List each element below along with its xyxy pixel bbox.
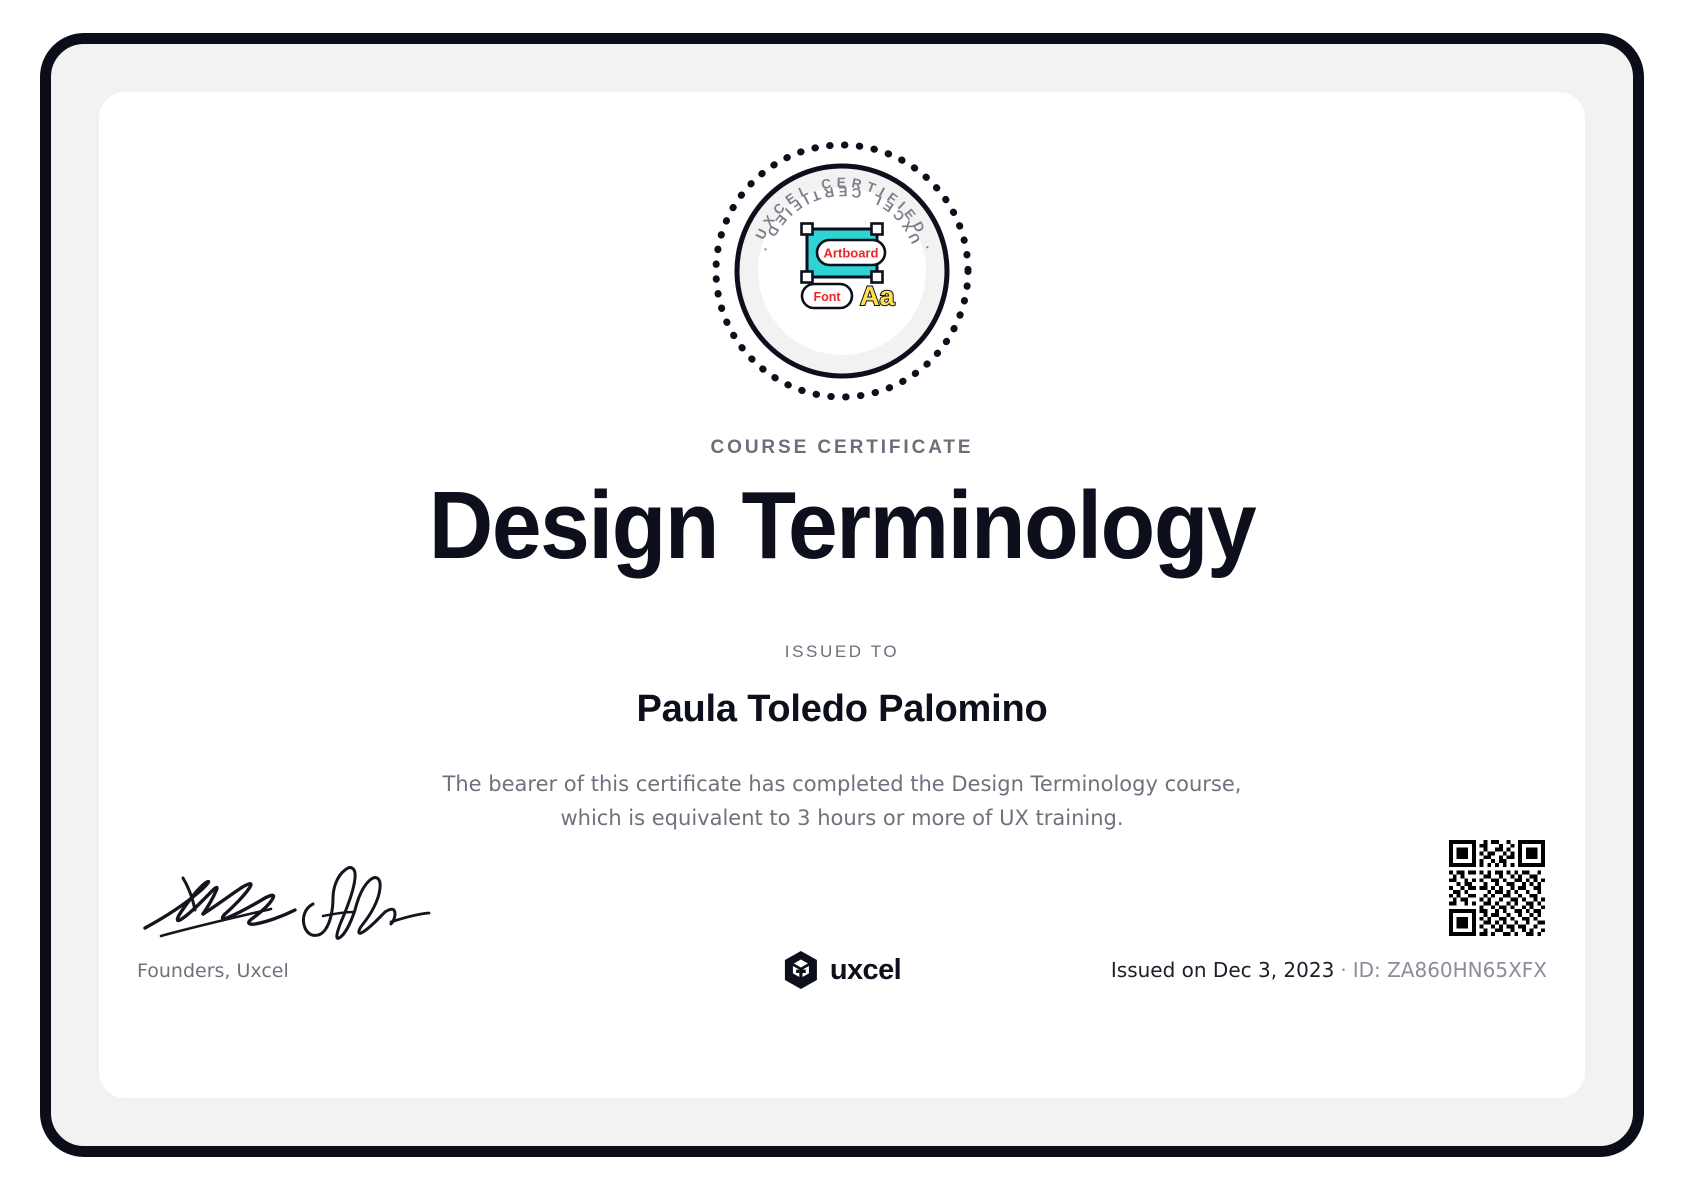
certificate-card: UXCEL CERTIFIED · UXCEL CERTIFIED · [99, 92, 1585, 1098]
founder-signatures [137, 852, 437, 944]
signature-founder-one [145, 878, 295, 936]
meta-separator: · [1334, 958, 1352, 982]
seal-artboard-label: Artboard [824, 246, 879, 261]
uxcel-wordmark: uxcel [830, 954, 901, 987]
recipient-name: Paula Toledo Palomino [99, 688, 1585, 731]
uxcel-hexagon-logo-icon [783, 950, 819, 990]
seal-graphic: UXCEL CERTIFIED · UXCEL CERTIFIED · [708, 137, 976, 405]
issue-meta: Issued on Dec 3, 2023·ID: ZA860HN65XFX [1111, 958, 1547, 982]
certificate-frame: UXCEL CERTIFIED · UXCEL CERTIFIED · [40, 33, 1644, 1157]
issued-to-label: ISSUED TO [99, 642, 1585, 662]
page-title: Design Terminology [151, 478, 1533, 574]
seal-font-sample: Aa [860, 281, 895, 311]
signature-graphic [137, 852, 437, 944]
seal-artboard-graphic: Artboard [802, 224, 886, 283]
description-line-2: which is equivalent to 3 hours or more o… [392, 801, 1292, 835]
signature-founder-two [303, 868, 429, 939]
certificate-id: ID: ZA860HN65XFX [1353, 958, 1547, 982]
uxcel-certified-seal: UXCEL CERTIFIED · UXCEL CERTIFIED · [708, 137, 976, 405]
uxcel-brand-lockup: uxcel [783, 950, 901, 990]
description-line-1: The bearer of this certificate has compl… [392, 767, 1292, 801]
course-certificate-eyebrow: COURSE CERTIFICATE [99, 437, 1585, 459]
certificate-description: The bearer of this certificate has compl… [392, 767, 1292, 835]
verification-qr-code[interactable] [1449, 840, 1545, 936]
founders-label: Founders, Uxcel [137, 960, 289, 982]
qr-code-graphic [1449, 840, 1545, 936]
seal-font-label: Font [813, 290, 841, 304]
issued-on-date: Issued on Dec 3, 2023 [1111, 958, 1334, 982]
